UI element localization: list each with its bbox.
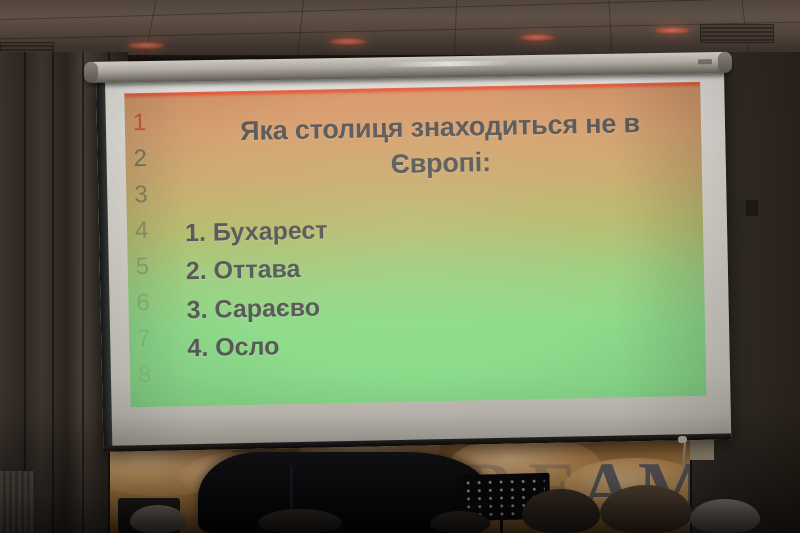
suspended-ceiling: [0, 0, 800, 58]
photo-scene: D R E A M 1 2 3 4 5 6 7 8 Яка столиця зн…: [0, 0, 800, 533]
wall-panel-seam: [52, 52, 54, 533]
audience-head: [522, 489, 600, 533]
radiator: [0, 471, 34, 533]
wall-panel-seam: [24, 52, 26, 533]
housing-logo: [698, 59, 712, 64]
wall-panel-seam: [82, 52, 84, 533]
microphone-icon: [678, 436, 687, 443]
wall-fixture: [746, 200, 758, 216]
housing-highlight: [384, 60, 514, 67]
audience-head: [430, 511, 490, 533]
audience-head: [130, 505, 186, 533]
housing-endcap-left: [84, 62, 98, 83]
audience-head: [258, 509, 342, 533]
projector-screen-fabric: 1 2 3 4 5 6 7 8 Яка столиця знаходиться …: [96, 67, 731, 452]
audience-head: [690, 499, 760, 533]
housing-endcap-right: [718, 52, 732, 73]
ceiling-shading: [0, 0, 800, 58]
screen-shading: [96, 67, 731, 452]
music-stand-pole: [500, 516, 503, 533]
